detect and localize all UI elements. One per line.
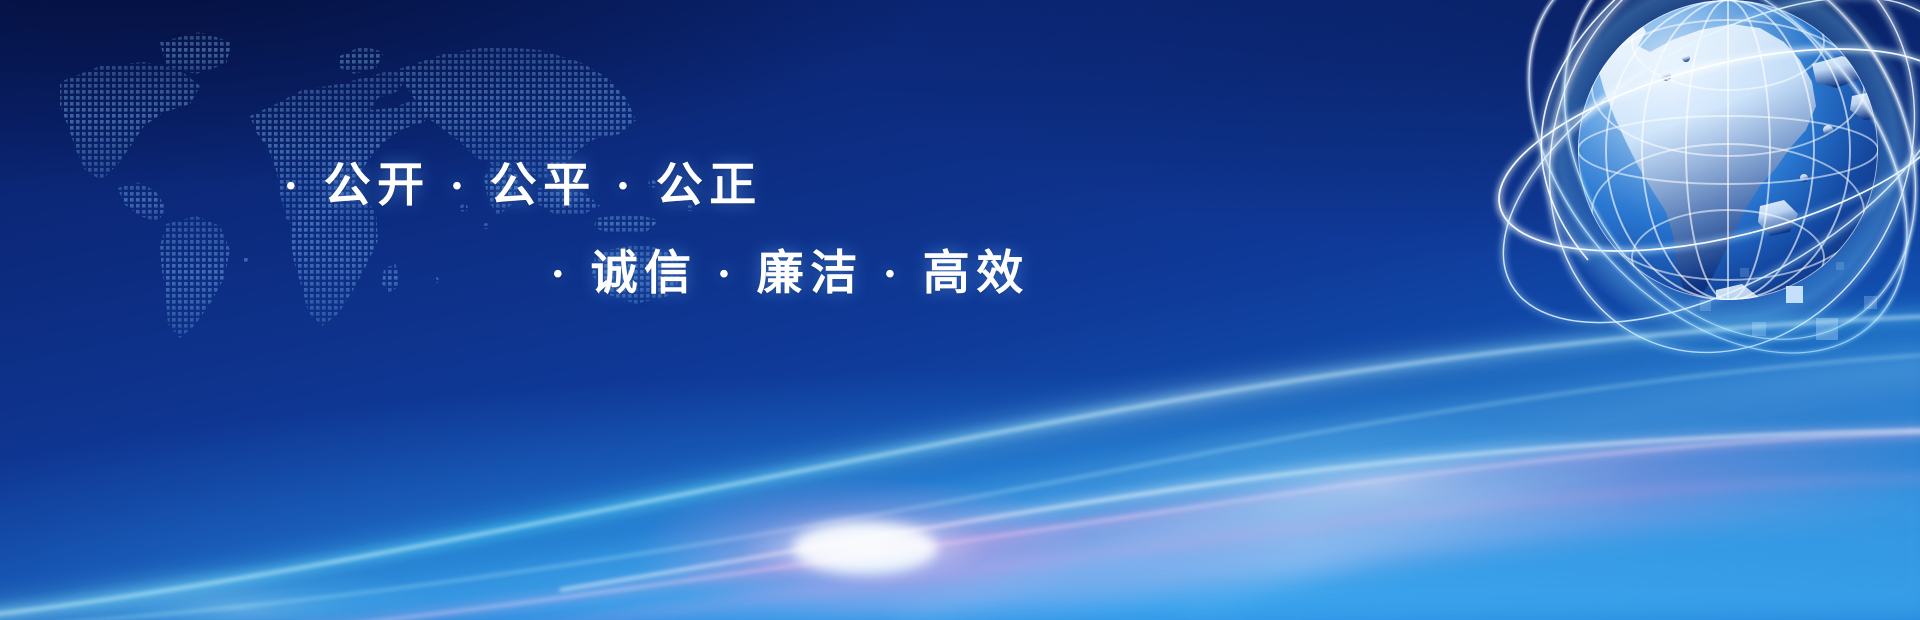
corporate-banner: · 公开 · 公平 · 公正 · 诚信 · 廉洁 · 高效 [0,0,1920,620]
light-wave-graphic [0,290,1920,620]
pixel-square [1740,268,1749,277]
pixel-square [1836,262,1844,270]
